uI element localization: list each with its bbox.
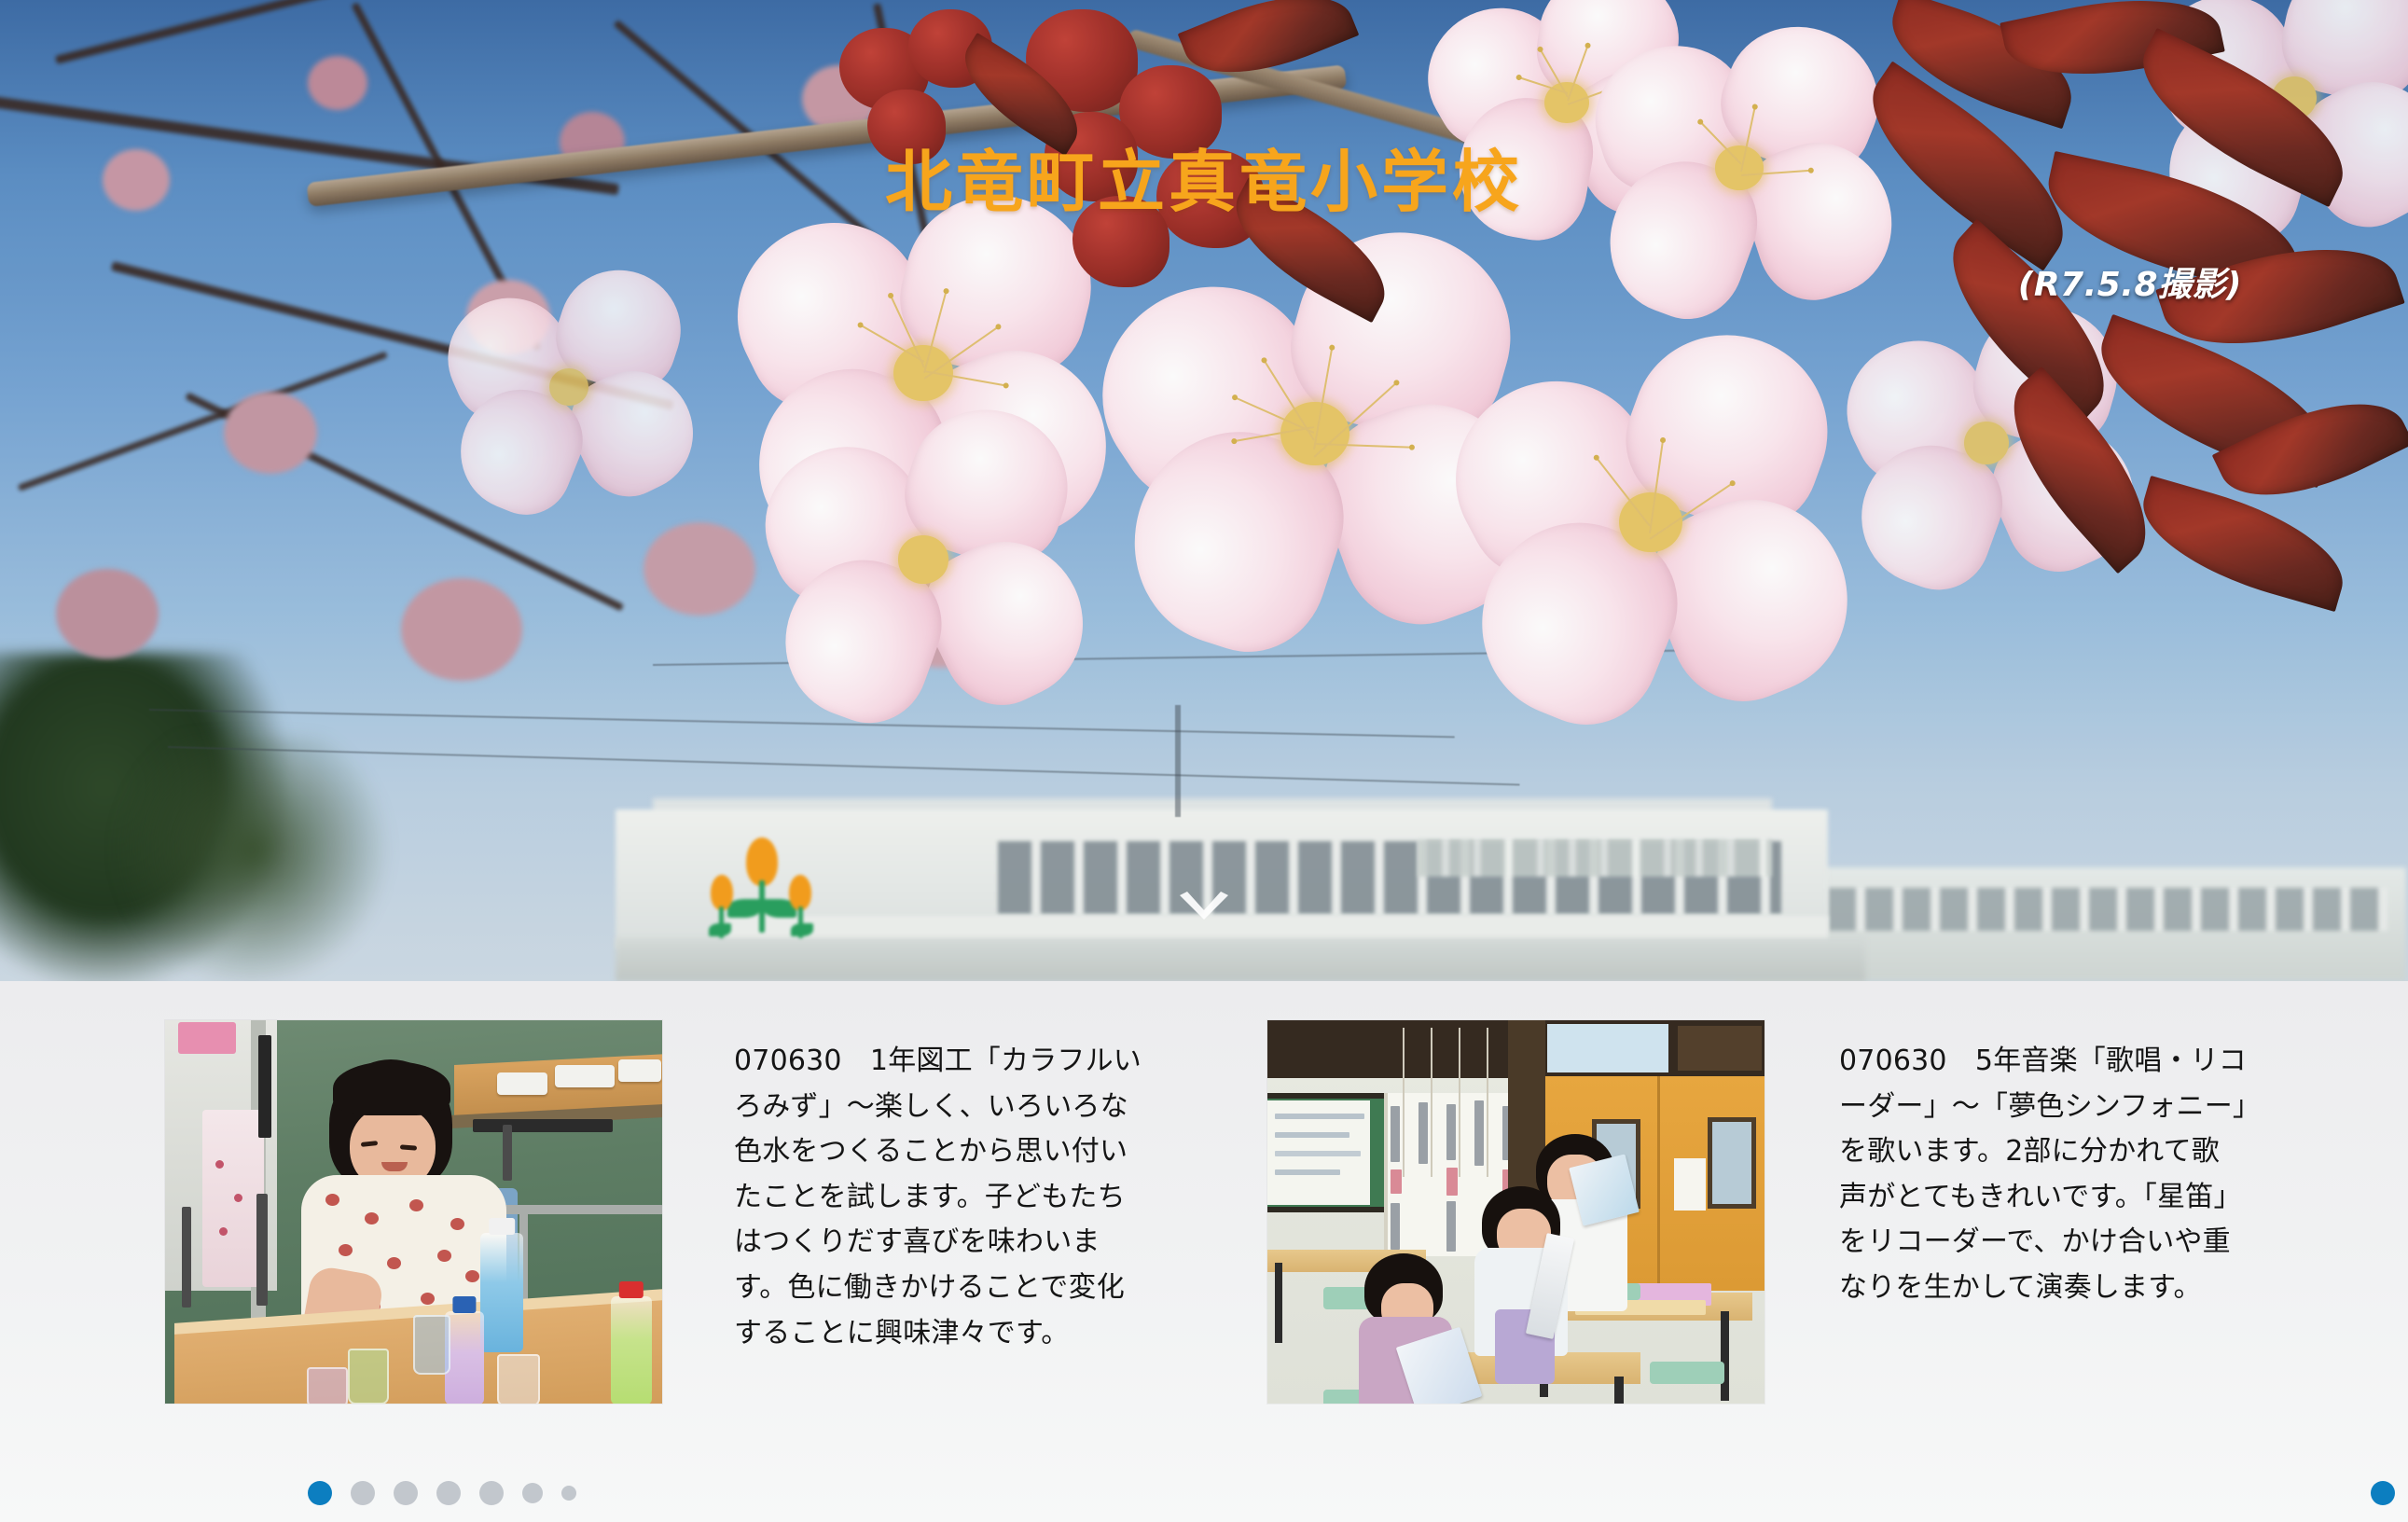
door-window-right (1708, 1117, 1756, 1209)
cup-blue (413, 1315, 450, 1375)
carousel-dot-5[interactable] (479, 1481, 504, 1505)
cup-lavender (307, 1367, 348, 1404)
wall-notice-poster (1674, 1158, 1706, 1211)
news-card-1-photo[interactable] (165, 1020, 662, 1404)
photo-art-class-color-water (165, 1020, 662, 1404)
hero-photo-caption: (R7.5.8撮影) (2018, 257, 2242, 306)
cup-clear (497, 1354, 540, 1404)
carousel-dot-4[interactable] (436, 1481, 461, 1505)
water-bottle-purple (445, 1311, 484, 1404)
water-bottle-blue (480, 1233, 523, 1352)
carousel-dot-1[interactable] (2371, 1481, 2395, 1505)
carousel-dot-6[interactable] (522, 1483, 543, 1503)
carousel-dot-3[interactable] (394, 1481, 418, 1505)
news-card-1-carousel-dots[interactable] (308, 1481, 576, 1505)
news-card-2-carousel-dots[interactable] (2371, 1481, 2408, 1505)
cup-green (348, 1349, 389, 1404)
carousel-dot-2[interactable] (351, 1481, 375, 1505)
carousel-dot-1[interactable] (308, 1481, 332, 1505)
news-card-2-photo[interactable] (1267, 1020, 1764, 1404)
carousel-dot-7[interactable] (561, 1486, 576, 1501)
water-bottle-green (611, 1296, 652, 1404)
page-title: 北竜町立真竜小学校 (0, 127, 2408, 225)
chevron-down-icon[interactable] (1174, 888, 1234, 931)
page-root: 北竜町立真竜小学校 (R7.5.8撮影) (0, 0, 2408, 1522)
news-card-1-text: 070630 1年図工「カラフルいろみず」～楽しく、いろいろな色水をつくることか… (734, 1039, 1142, 1356)
hero-section: 北竜町立真竜小学校 (R7.5.8撮影) (0, 0, 2408, 981)
news-card-2-text: 070630 5年音楽「歌唱・リコーダー」～「夢色シンフォニー」を歌います。2部… (1839, 1039, 2248, 1311)
news-section: 070630 1年図工「カラフルいろみず」～楽しく、いろいろな色水をつくることか… (0, 981, 2408, 1522)
photo-music-class-recorder (1267, 1020, 1764, 1404)
